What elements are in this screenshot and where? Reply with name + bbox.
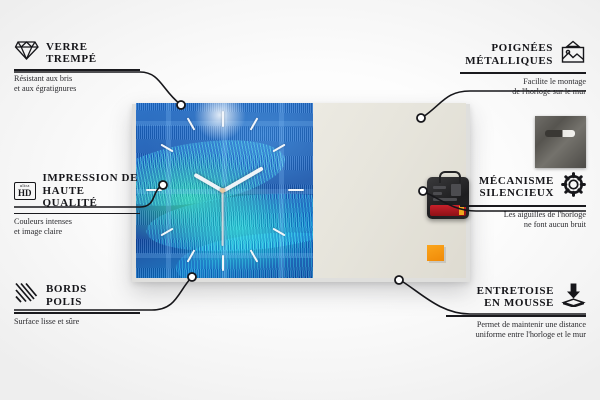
polished-edges-icon bbox=[14, 282, 39, 309]
marker-dot-poignees bbox=[417, 114, 425, 122]
divider bbox=[14, 69, 140, 71]
foam-spacer-icon bbox=[561, 282, 586, 312]
marker-dot-bords-polis bbox=[188, 273, 196, 281]
divider bbox=[14, 312, 140, 314]
feature-subtitle: Les aiguilles de l'horloge ne font aucun… bbox=[460, 210, 586, 230]
feature-title: IMPRESSION DE HAUTE QUALITÉ bbox=[43, 172, 141, 210]
divider bbox=[460, 205, 586, 207]
marker-dot-mecanisme bbox=[419, 187, 427, 195]
feature-subtitle: Couleurs intenses et image claire bbox=[14, 217, 140, 237]
feature-subtitle: Résistant aux bris et aux égratignures bbox=[14, 74, 140, 94]
divider bbox=[446, 315, 586, 317]
divider bbox=[14, 213, 140, 215]
marker-dot-entretoise bbox=[395, 276, 403, 284]
feature-verre-trempe: VERRE TREMPÉ Résistant aux bris et aux é… bbox=[14, 40, 140, 94]
divider bbox=[460, 72, 586, 74]
ultra-hd-badge-icon: ultra HD bbox=[14, 182, 36, 200]
feature-title: VERRE TREMPÉ bbox=[46, 41, 97, 66]
gear-icon bbox=[561, 172, 586, 202]
diamond-icon bbox=[14, 40, 39, 66]
hanging-frame-icon bbox=[560, 40, 586, 69]
feature-title: POIGNÉES MÉTALLIQUES bbox=[465, 42, 553, 67]
feature-poignees-metalliques: POIGNÉES MÉTALLIQUES Facilite le montage… bbox=[460, 40, 586, 97]
marker-dot-impression bbox=[159, 181, 167, 189]
infographic-canvas: VERRE TREMPÉ Résistant aux bris et aux é… bbox=[0, 0, 600, 400]
feature-subtitle: Surface lisse et sûre bbox=[14, 317, 140, 327]
feature-subtitle: Facilite le montage de l'horloge sur le … bbox=[460, 77, 586, 97]
feature-mecanisme-silencieux: MÉCANISME SILENCIEUX Les aiguilles de l'… bbox=[460, 172, 586, 230]
feature-subtitle: Permet de maintenir une distance uniform… bbox=[446, 320, 586, 340]
marker-dot-verre-trempe bbox=[177, 101, 185, 109]
feature-entretoise-en-mousse: ENTRETOISE EN MOUSSE Permet de maintenir… bbox=[446, 282, 586, 340]
feature-bords-polis: BORDS POLIS Surface lisse et sûre bbox=[14, 282, 140, 327]
feature-title: ENTRETOISE EN MOUSSE bbox=[477, 285, 554, 310]
feature-title: MÉCANISME SILENCIEUX bbox=[479, 175, 554, 200]
feature-impression-haute-qualite: ultra HD IMPRESSION DE HAUTE QUALITÉ Cou… bbox=[14, 172, 140, 237]
feature-title: BORDS POLIS bbox=[46, 283, 87, 308]
